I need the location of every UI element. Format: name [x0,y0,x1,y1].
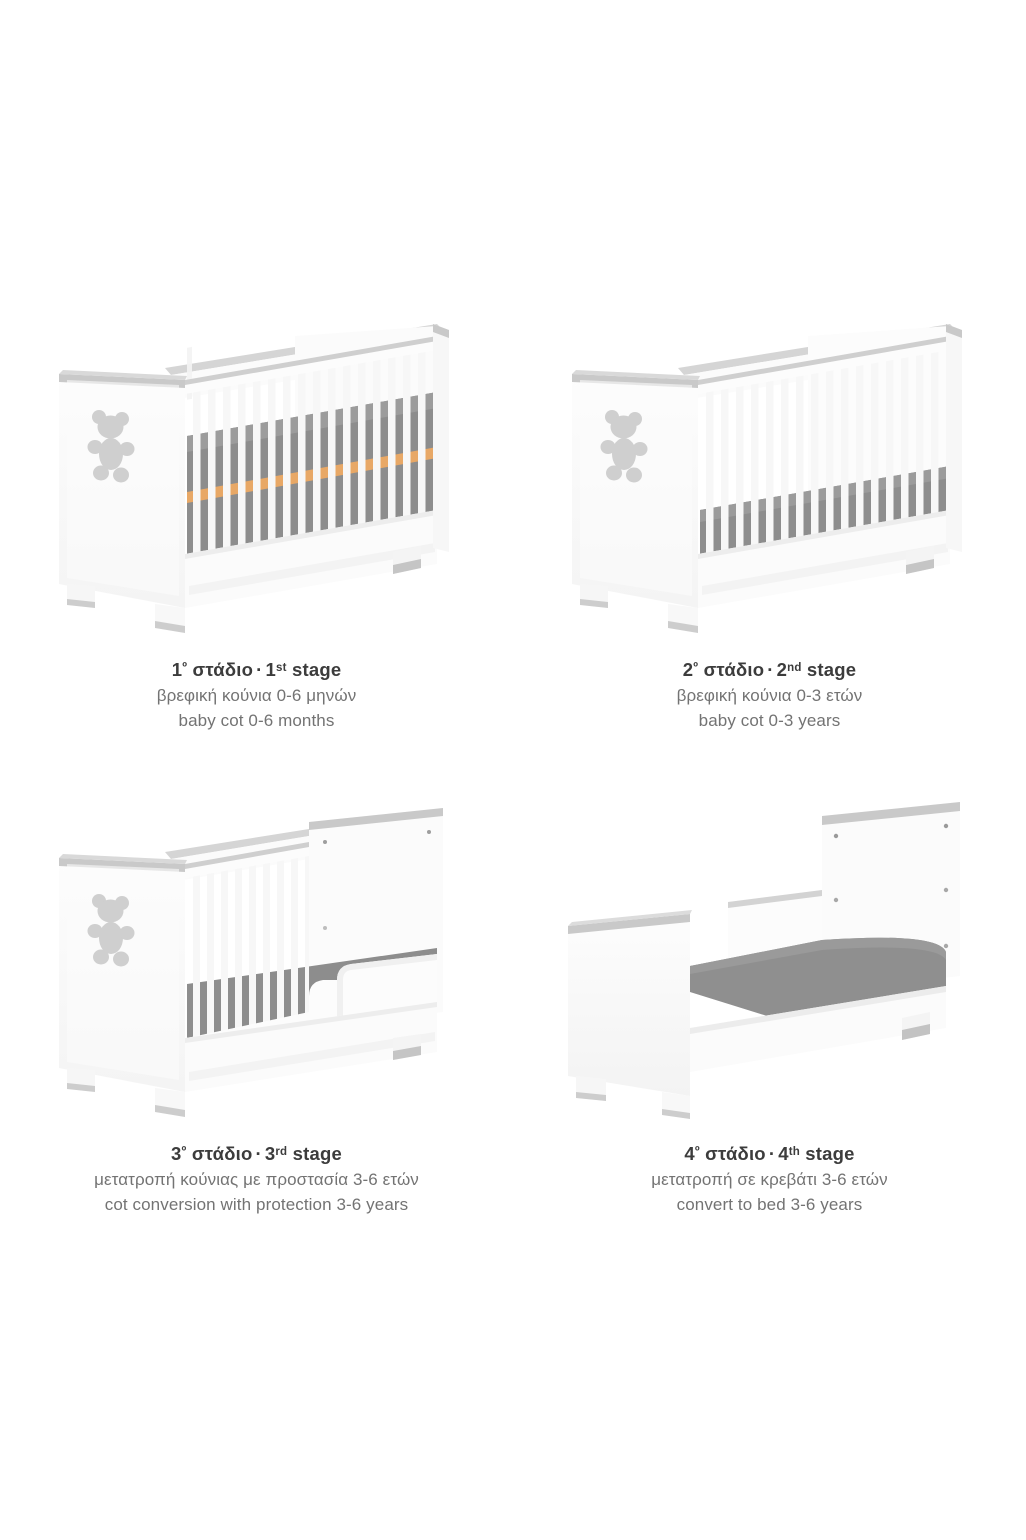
stage-2-desc-english: baby cot 0-3 years [513,709,1026,734]
stage-4-separator: · [766,1143,778,1164]
stage-4-en-num: 4 [778,1143,789,1164]
screw-dot [833,898,837,902]
stage-2-en-word: stage [807,659,856,680]
bed-footboard [568,910,692,1096]
stage-1-greek-ord: º [182,659,187,674]
stage-2-greek-num: 2 [683,659,694,680]
screw-dot [943,888,947,892]
screw-dot [833,834,837,838]
stage-3-desc-greek: μετατροπή κούνιας με προστασία 3-6 ετών [0,1168,513,1193]
stage-cell-1: 1º στάδιο·1st stage βρεφική κούνια 0-6 μ… [0,296,513,780]
stage-3-en-sup: rd [275,1146,287,1158]
stage-2-title: 2º στάδιο·2nd stage [513,656,1026,684]
stage-4-illustration-wrap [513,780,1026,1138]
cot-headboard [59,854,187,1117]
stage-1-illustration-wrap [0,296,513,654]
stage-3-illustration-wrap [0,780,513,1138]
stage-1-en-word: stage [292,659,341,680]
stage-4-en-word: stage [805,1143,854,1164]
stage-1-greek-num: 1 [172,659,183,680]
stage-3-caption: 3º στάδιο·3rd stage μετατροπή κούνιας με… [0,1140,513,1218]
stage-4-greek-word: στάδιο [705,1143,766,1164]
stage-cell-2: 2º στάδιο·2nd stage βρεφική κούνια 0-3 ε… [513,296,1026,780]
stage-4-desc-greek: μετατροπή σε κρεβάτι 3-6 ετών [513,1168,1026,1193]
stage-2-caption: 2º στάδιο·2nd stage βρεφική κούνια 0-3 ε… [513,656,1026,734]
stage-cell-4: 4º στάδιο·4th stage μετατροπή σε κρεβάτι… [513,780,1026,1264]
stage-4-caption: 4º στάδιο·4th stage μετατροπή σε κρεβάτι… [513,1140,1026,1218]
stage-3-greek-ord: º [182,1143,187,1158]
product-stage-diagram: 1º στάδιο·1st stage βρεφική κούνια 0-6 μ… [0,0,1026,1540]
stage-4-greek-ord: º [695,1143,700,1158]
stage-1-en-sup: st [276,662,287,674]
stage-3-greek-word: στάδιο [192,1143,253,1164]
stage-4-desc-english: convert to bed 3-6 years [513,1193,1026,1218]
crib-low-mattress-illustration [550,296,990,641]
screw-dot [323,840,327,844]
stage-1-separator: · [253,659,265,680]
stage-2-greek-word: στάδιο [704,659,765,680]
stage-3-title: 3º στάδιο·3rd stage [0,1140,513,1168]
stage-4-en-sup: th [789,1146,800,1158]
stage-2-en-sup: nd [787,662,801,674]
stage-1-en-num: 1 [266,659,277,680]
stage-2-en-num: 2 [777,659,788,680]
stage-3-en-num: 3 [265,1143,276,1164]
screw-dot [943,824,947,828]
stage-cell-3: 3º στάδιο·3rd stage μετατροπή κούνιας με… [0,780,513,1264]
crib-rear-post-right [946,324,962,552]
screw-dot [427,830,431,834]
stage-grid: 1º στάδιο·1st stage βρεφική κούνια 0-6 μ… [0,296,1026,1264]
stage-1-title: 1º στάδιο·1st stage [0,656,513,684]
cot-conversion-illustration [37,780,477,1125]
stage-4-greek-num: 4 [684,1143,695,1164]
crib-rear-post-right [433,324,449,552]
stage-1-caption: 1º στάδιο·1st stage βρεφική κούνια 0-6 μ… [0,656,513,734]
stage-3-greek-num: 3 [171,1143,182,1164]
stage-3-separator: · [252,1143,264,1164]
crib-headboard [572,370,700,633]
stage-1-desc-english: baby cot 0-6 months [0,709,513,734]
stage-2-greek-ord: º [693,659,698,674]
stage-3-desc-english: cot conversion with protection 3-6 years [0,1193,513,1218]
crib-high-mattress-illustration [37,296,477,641]
stage-2-illustration-wrap [513,296,1026,654]
converted-bed-illustration [550,780,990,1125]
stage-1-greek-word: στάδιο [192,659,253,680]
stage-4-title: 4º στάδιο·4th stage [513,1140,1026,1168]
stage-2-separator: · [764,659,776,680]
screw-dot [323,926,327,930]
stage-3-en-word: stage [293,1143,342,1164]
stage-1-desc-greek: βρεφική κούνια 0-6 μηνών [0,684,513,709]
stage-2-desc-greek: βρεφική κούνια 0-3 ετών [513,684,1026,709]
crib-headboard [59,370,187,633]
screw-dot [943,944,947,948]
